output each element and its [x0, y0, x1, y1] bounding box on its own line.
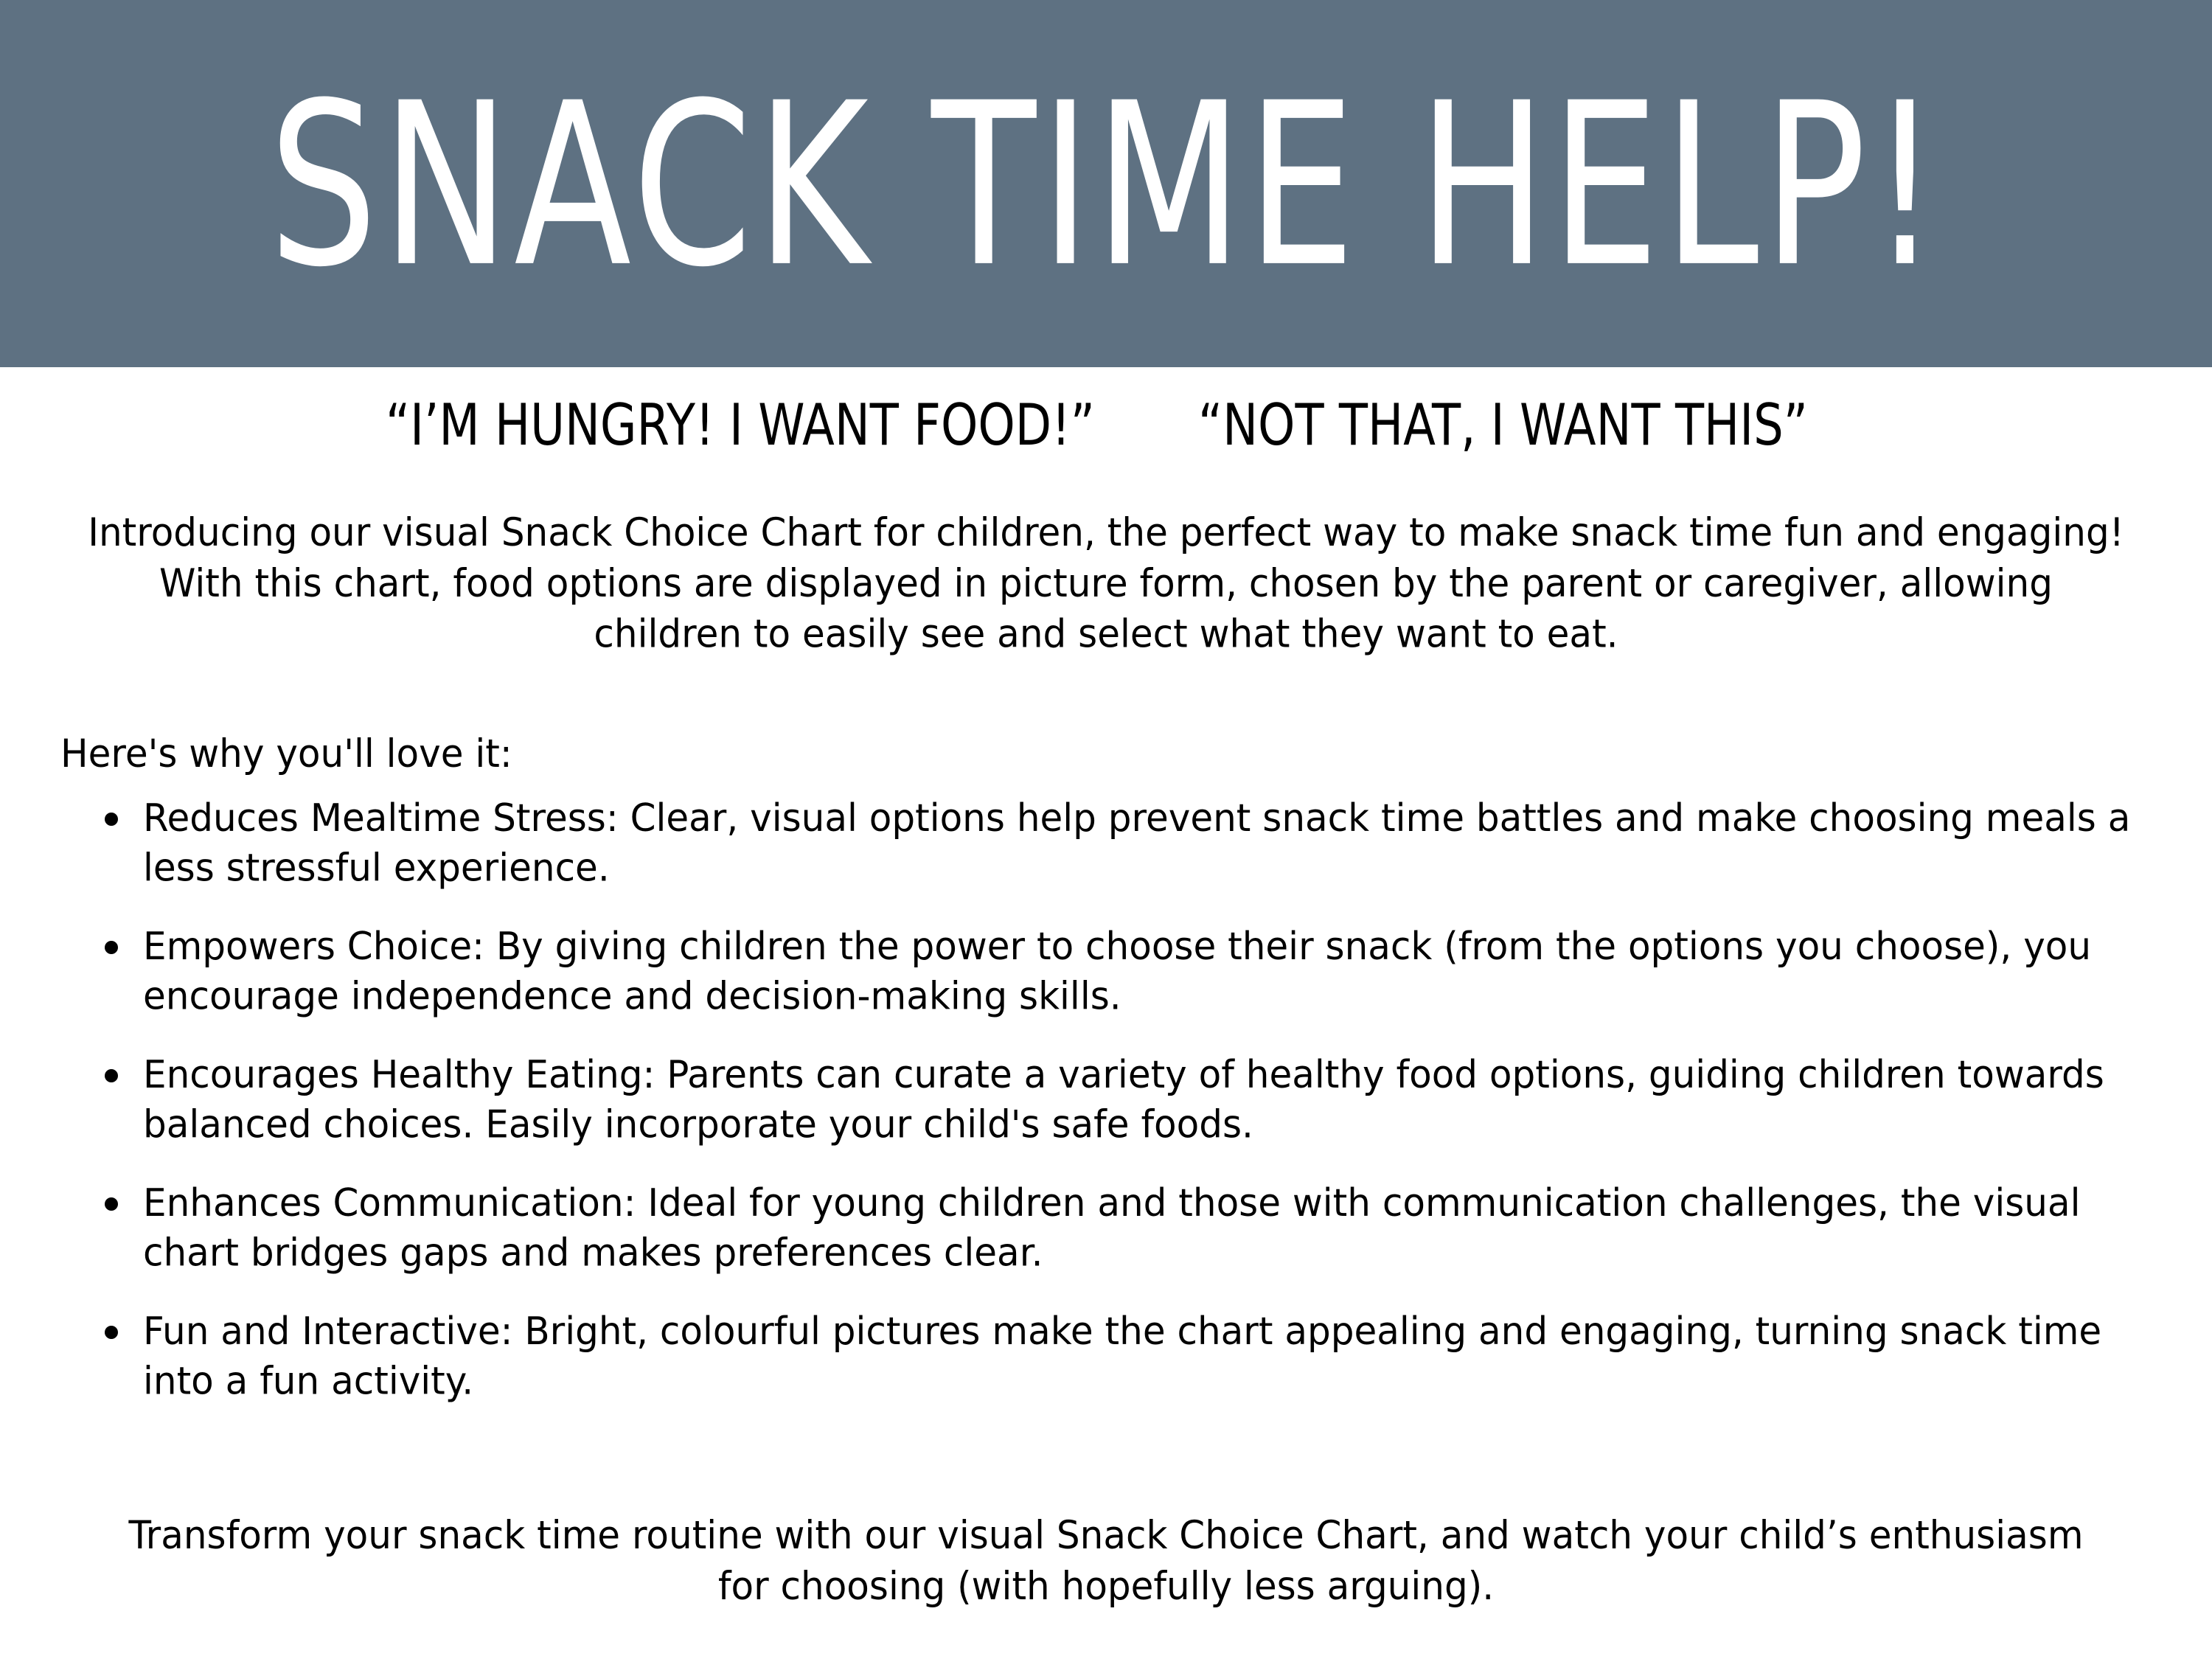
subtitle-quote-not-that: “NOT THAT, I WANT THIS”	[1198, 397, 1808, 454]
bullet-dot-icon	[105, 941, 118, 954]
header-banner: SNACK TIME HELP!	[0, 0, 2212, 367]
benefits-list: Reduces Mealtime Stress: Clear, visual o…	[88, 793, 2146, 1435]
list-item: Encourages Healthy Eating: Parents can c…	[88, 1050, 2146, 1146]
poster-page: SNACK TIME HELP! “I’M HUNGRY! I WANT FOO…	[0, 0, 2212, 1659]
subtitle-quote-hungry: “I’M HUNGRY! I WANT FOOD!”	[386, 397, 1095, 454]
bullet-dot-icon	[105, 813, 118, 826]
bullet-dot-icon	[105, 1197, 118, 1211]
benefit-text-enhances-communication: Enhances Communication: Ideal for young …	[143, 1178, 2146, 1278]
benefit-text-encourages-healthy-eating: Encourages Healthy Eating: Parents can c…	[143, 1050, 2146, 1150]
list-item: Fun and Interactive: Bright, colourful p…	[88, 1307, 2146, 1402]
subtitle-row: “I’M HUNGRY! I WANT FOOD!” “NOT THAT, I …	[0, 406, 2212, 454]
intro-paragraph: Introducing our visual Snack Choice Char…	[81, 507, 2131, 660]
closing-paragraph: Transform your snack time routine with o…	[118, 1510, 2094, 1612]
bullet-dot-icon	[105, 1069, 118, 1082]
benefit-text-reduces-mealtime-stress: Reduces Mealtime Stress: Clear, visual o…	[143, 793, 2146, 893]
list-item: Enhances Communication: Ideal for young …	[88, 1178, 2146, 1274]
lead-in-text: Here's why you'll love it:	[60, 730, 512, 777]
benefit-text-fun-and-interactive: Fun and Interactive: Bright, colourful p…	[143, 1307, 2146, 1406]
body-content: “I’M HUNGRY! I WANT FOOD!” “NOT THAT, I …	[0, 367, 2212, 1659]
bullet-dot-icon	[105, 1326, 118, 1339]
page-title: SNACK TIME HELP!	[268, 74, 1943, 299]
benefit-text-empowers-choice: Empowers Choice: By giving children the …	[143, 922, 2146, 1021]
list-item: Empowers Choice: By giving children the …	[88, 922, 2146, 1018]
list-item: Reduces Mealtime Stress: Clear, visual o…	[88, 793, 2146, 889]
